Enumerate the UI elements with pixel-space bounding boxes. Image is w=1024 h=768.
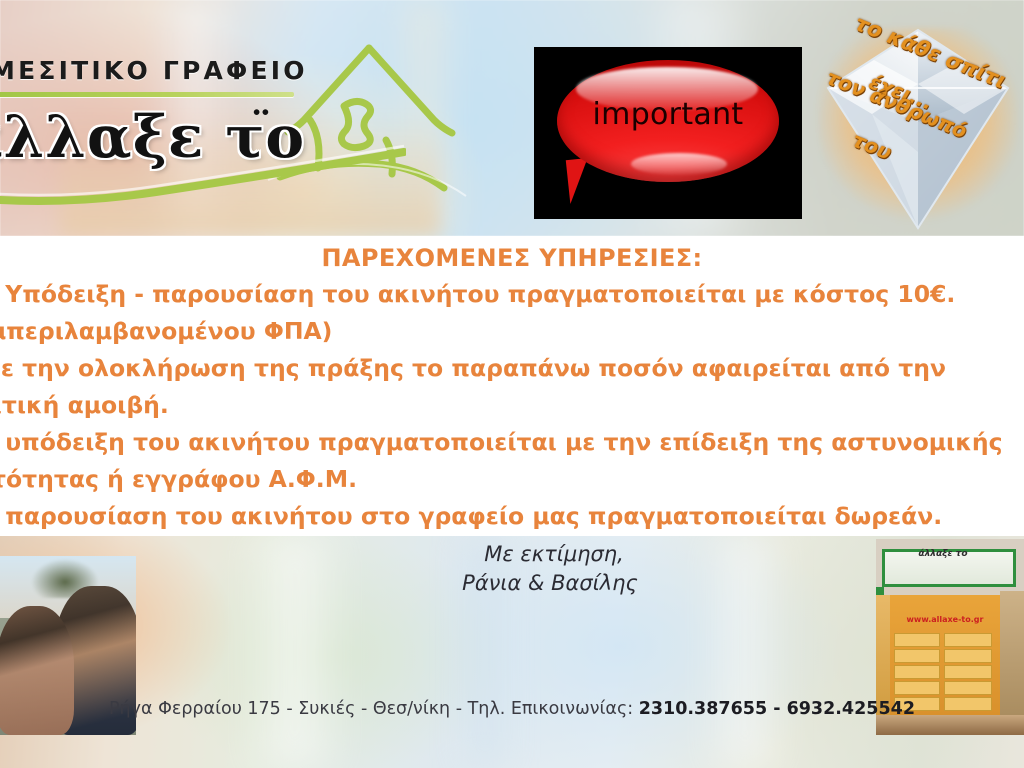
services-heading: ΠΑΡΕΧΟΜΕΝΕΣ ΥΠΗΡΕΣΙΕΣ:: [0, 244, 1024, 272]
services-line: 2. Με την ολοκλήρωση της πράξης το παραπ…: [0, 350, 1024, 387]
diamond-slogan-line: τον άνθρωπό: [823, 65, 971, 143]
phone-separator: -: [767, 699, 786, 719]
signature-line-2: Ράνια & Βασίλης: [400, 569, 700, 598]
phone-number-1: 2310.387655: [639, 699, 767, 719]
services-line: 1. Η Υπόδειξη - παρουσίαση του ακινήτου …: [0, 276, 1024, 313]
footer-blur-streak: [240, 536, 350, 768]
diamond-slogan-line: του: [849, 127, 895, 164]
speech-bubble-tail-icon: [566, 158, 592, 204]
important-callout: important: [534, 47, 802, 219]
signature-line-1: Με εκτίμηση,: [400, 540, 700, 569]
listing-card: [944, 681, 992, 695]
services-line: 3. Η υπόδειξη του ακινήτου πραγματοποιεί…: [0, 424, 1024, 461]
logo-quote-close: ¨: [251, 104, 269, 151]
phone-number-2: 6932.425542: [787, 699, 915, 719]
services-section: ΠΑΡΕΧΟΜΕΝΕΣ ΥΠΗΡΕΣΙΕΣ: 1. Η Υπόδειξη - π…: [0, 236, 1024, 536]
logo-title-underline: [0, 92, 294, 97]
services-line: μεσιτική αμοιβή.: [0, 387, 1024, 424]
listing-card: [944, 649, 992, 663]
shop-sign-text: άλλαξε το: [876, 549, 1010, 559]
signature-block: Με εκτίμηση, Ράνια & Βασίλης: [400, 540, 700, 598]
contact-address-bar: Ρήγα Φερραίου 175 - Συκιές - Θεσ/νίκη - …: [0, 699, 1024, 719]
important-label: important: [534, 97, 802, 132]
diamond-callout: το κάθε σπίτι έχει... τον άνθρωπό του: [812, 22, 1024, 236]
poster-canvas: ΜΕΣΙΤΙΚΟ ΓΡΑΦΕΙΟ “ άλλαξε το ¨ important: [0, 0, 1024, 768]
brand-logo: ΜΕΣΙΤΙΚΟ ΓΡΑΦΕΙΟ “ άλλαξε το ¨: [0, 48, 426, 198]
services-line: ταυτότητας ή εγγράφου Α.Φ.Μ.: [0, 461, 1024, 498]
address-street: Ρήγα Φερραίου 175 - Συκιές - Θεσ/νίκη - …: [109, 699, 639, 719]
logo-title: ΜΕΣΙΤΙΚΟ ΓΡΑΦΕΙΟ: [0, 56, 308, 85]
listing-card: [944, 633, 992, 647]
listing-card: [894, 665, 940, 679]
diamond-slogan: το κάθε σπίτι έχει... τον άνθρωπό του: [812, 22, 1024, 236]
shop-website-text: www.allaxe-to.gr: [890, 615, 1000, 624]
footer-blur-streak: [700, 536, 790, 768]
listing-card: [944, 665, 992, 679]
services-line: (συμπεριλαμβανομένου ΦΠΑ): [0, 313, 1024, 350]
listing-card: [894, 649, 940, 663]
services-list: 1. Η Υπόδειξη - παρουσίαση του ακινήτου …: [0, 276, 1024, 535]
listing-card: [894, 633, 940, 647]
bubble-gloss-highlight: [631, 153, 727, 175]
services-line: 4. Η παρουσίαση του ακινήτου στο γραφείο…: [0, 498, 1024, 535]
listing-card: [894, 681, 940, 695]
